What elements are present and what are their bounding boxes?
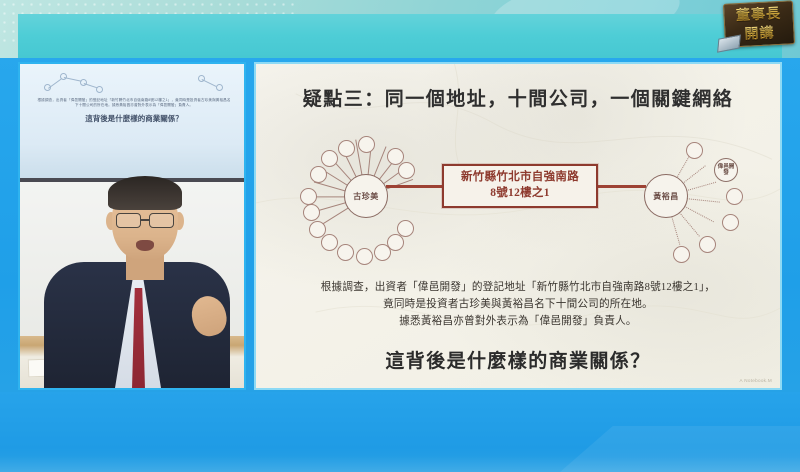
body-line-1: 根據調查，出資者「偉邑開發」的登記地址「新竹縣竹北市自強南路8號12樓之1」， [280,279,756,296]
speaker-hair [108,176,182,210]
speaker-glasses-icon [116,213,174,228]
show-logo-badge: 董事長 開講 [723,0,795,48]
satellite-node [338,140,355,157]
satellite-node [722,214,739,231]
satellite-node [321,234,338,251]
satellite-node [337,244,354,261]
body-line-3: 據悉黃裕昌亦曾對外表示為「偉邑開發」負責人。 [280,313,756,330]
slide-watermark: A Notebook.M [740,378,772,383]
broadcast-frame: 董事長 開講 根據調查，出資者「偉邑開發」的登記地址「新竹縣竹北市自強南路8號1… [0,0,800,472]
speaker-video-panel: 根據調查，出資者「偉邑開發」的登記地址「新竹縣竹北市自強南路8號12樓之1」，竟… [18,62,246,390]
slide-body-text: 根據調查，出資者「偉邑開發」的登記地址「新竹縣竹北市自強南路8號12樓之1」， … [280,279,756,330]
network-diagram: 偉邑開發 古珍美 黃裕昌 新竹縣竹北市自強南路 8號12樓之1 [256,122,782,274]
satellite-node [686,142,703,159]
satellite-node [310,166,327,183]
bottom-glow [0,456,800,472]
presentation-slide: 疑點三：同一個地址，十間公司，一個關鍵網絡 [254,62,782,390]
satellite-node [398,162,415,179]
satellite-node [358,136,375,153]
satellite-node [673,246,690,263]
header-teal-bar [18,14,782,58]
slide-kicker-question: 這背後是什麼樣的商業關係？ [256,346,780,373]
satellite-node [356,248,373,265]
satellite-node [397,220,414,237]
connector-left [386,185,444,188]
address-line-2: 8號12樓之1 [490,186,550,202]
address-line-1: 新竹縣竹北市自強南路 [461,170,579,186]
satellite-node [387,234,404,251]
slide-title: 疑點三：同一個地址，十間公司，一個關鍵網絡 [256,84,780,111]
body-line-2: 竟同時是投資者古珍美與黃裕昌名下十間公司的所在地。 [280,296,756,313]
speaker-mouth [136,240,154,251]
satellite-node [321,150,338,167]
address-callout-box: 新竹縣竹北市自強南路 8號12樓之1 [442,164,598,208]
speaker-figure [20,88,246,388]
satellite-node-weiyi: 偉邑開發 [714,158,738,182]
satellite-node [303,204,320,221]
satellite-node [726,188,743,205]
satellite-node [300,188,317,205]
satellite-node [699,236,716,253]
hub-node-gujenmei: 古珍美 [344,174,388,218]
connector-right [596,185,646,188]
logo-line-2: 開講 [724,21,795,45]
hub-node-huangyuchang: 黃裕昌 [644,174,688,218]
satellite-node [387,148,404,165]
